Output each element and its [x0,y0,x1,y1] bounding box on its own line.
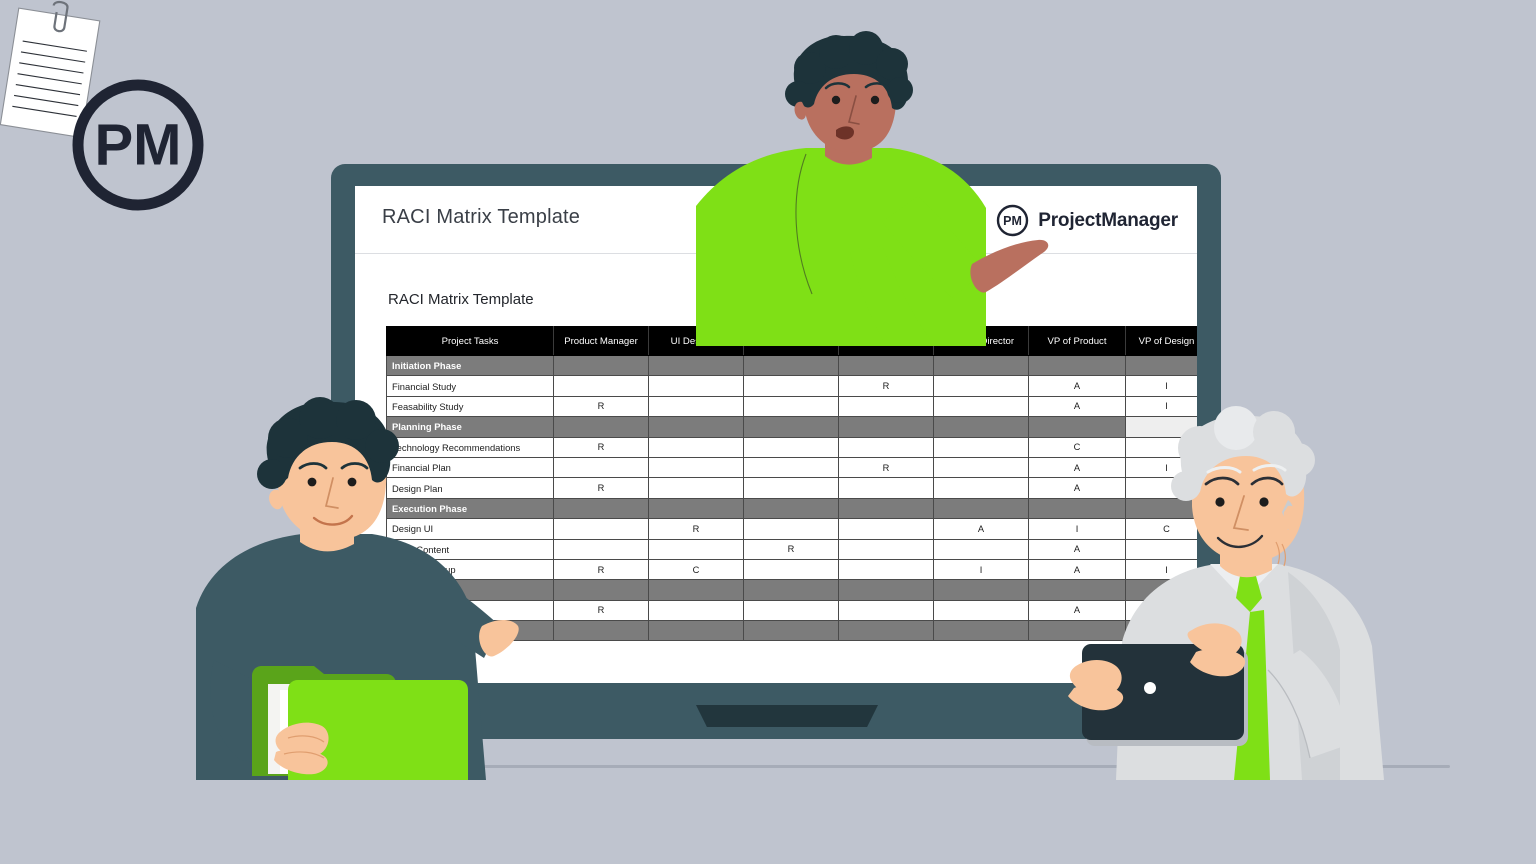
table-row: Design PlanRA [387,478,1198,498]
raci-cell [649,580,744,600]
raci-cell [839,559,934,579]
sheet-title: RACI Matrix Template [388,291,534,308]
raci-cell [744,457,839,477]
raci-cell [934,396,1029,416]
raci-cell [934,437,1029,457]
raci-cell [554,621,649,641]
phase-row: Execution Phase [387,498,1198,518]
table-row: Design UIRAIC [387,519,1198,539]
presenter-body [696,31,1048,346]
raci-cell [839,417,934,437]
table-row: Financial PlanRAI [387,457,1198,477]
pm-logo: PM [68,75,208,215]
svg-text:PM: PM [95,113,182,178]
raci-cell [839,621,934,641]
raci-cell [744,580,839,600]
raci-cell [744,478,839,498]
table-row: RAI [387,600,1198,620]
column-header-0: Project Tasks [387,327,554,356]
raci-cell [934,417,1029,437]
raci-cell [934,539,1029,559]
raci-cell [649,478,744,498]
raci-cell [839,437,934,457]
raci-cell: C [649,559,744,579]
raci-cell [839,600,934,620]
raci-cell [744,396,839,416]
raci-cell [554,519,649,539]
raci-cell: R [649,519,744,539]
raci-cell [744,498,839,518]
phase-row: Planning Phase [387,417,1198,437]
raci-cell [649,600,744,620]
raci-cell [554,539,649,559]
phase-row: Control Phase [387,580,1198,600]
raci-cell [839,519,934,539]
right-character [1092,414,1392,780]
raci-cell [744,600,839,620]
illustration-canvas: PM RACI Matrix Template PM ProjectManage… [0,0,1536,864]
raci-cell: I [934,559,1029,579]
raci-cell [839,580,934,600]
raci-cell [554,498,649,518]
raci-cell [649,396,744,416]
raci-cell: R [554,559,649,579]
table-row: Technology RecommendationsRC [387,437,1198,457]
raci-cell [554,356,649,376]
raci-cell [934,580,1029,600]
raci-cell [934,498,1029,518]
raci-cell [554,457,649,477]
table-row: Feasability StudyRAI [387,396,1198,416]
raci-cell [649,539,744,559]
raci-cell: R [554,478,649,498]
table-body: Initiation PhaseFinancial StudyRAIFeasab… [387,356,1198,641]
left-character [196,408,506,780]
raci-cell [744,621,839,641]
laptop-hinge-notch [696,705,878,727]
raci-cell: I [1126,376,1198,396]
column-header-7: VP of Design [1126,327,1198,356]
raci-cell [934,600,1029,620]
raci-cell: R [554,600,649,620]
presenter-character [686,46,1076,391]
raci-cell [744,559,839,579]
raci-cell [839,478,934,498]
raci-cell [839,498,934,518]
raci-cell: R [554,437,649,457]
raci-cell [554,580,649,600]
raci-cell [744,519,839,539]
column-header-1: Product Manager [554,327,649,356]
raci-cell [934,457,1029,477]
raci-cell: A [934,519,1029,539]
raci-cell [839,396,934,416]
raci-cell [934,621,1029,641]
task-name-cell: Initiation Phase [387,356,554,376]
raci-cell: R [744,539,839,559]
raci-cell [1126,356,1198,376]
table-row: Create MockupRCIAI [387,559,1198,579]
raci-cell [649,498,744,518]
raci-cell [934,478,1029,498]
raci-cell [554,417,649,437]
table-row: Write ContentRA [387,539,1198,559]
raci-cell [649,621,744,641]
raci-cell [744,417,839,437]
raci-cell [649,417,744,437]
raci-cell [649,457,744,477]
raci-cell [649,437,744,457]
task-name-cell: Financial Study [387,376,554,396]
raci-cell [839,539,934,559]
raci-cell: R [554,396,649,416]
raci-cell [554,376,649,396]
raci-cell: R [839,457,934,477]
raci-cell [744,437,839,457]
document-header-title: RACI Matrix Template [382,206,580,229]
